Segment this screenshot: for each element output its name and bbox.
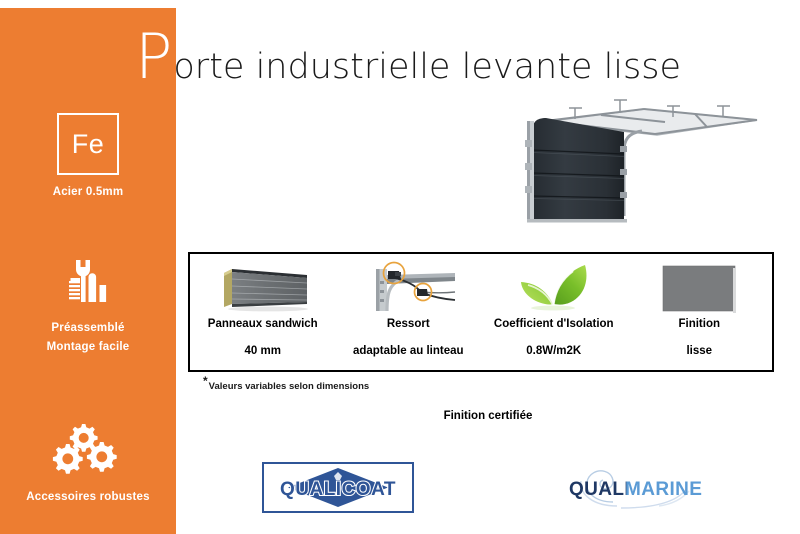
sectional-garage-door-image [505, 88, 775, 233]
feature-value-coefficient-isolation: 0.8W/m2K [526, 344, 581, 358]
sidebar-item-accessoires: Accessoires robustes [0, 420, 176, 507]
feature-title-ressort: Ressort [387, 317, 430, 331]
sandwich-panel-image [210, 258, 316, 314]
qualicoat-logo: QUALICOAT [262, 462, 414, 513]
feature-value-ressort: adaptable au linteau [353, 344, 464, 358]
feature-title-coefficient-isolation: Coefficient d'Isolation [494, 317, 614, 331]
certification-heading: Finition certifiée [0, 410, 800, 422]
sidebar-item-label-acier: Acier 0.5mm [0, 183, 176, 202]
sidebar-item-label-preassemble-1: Préassemblé [0, 319, 176, 338]
svg-text:QUALI: QUALI [569, 479, 630, 500]
fe-element-box-icon: Fe [57, 113, 119, 175]
footnote-asterisk: * [203, 374, 208, 388]
page-title-rest: orte industrielle levante lisse [173, 50, 681, 85]
page-title-initial: P [135, 26, 172, 88]
svg-text:MARINE: MARINE [625, 479, 702, 500]
svg-text:QUALICOAT: QUALICOAT [280, 479, 396, 500]
finish-swatch-image [653, 258, 745, 314]
sidebar-item-preassemble: Préassemblé Montage facile [0, 251, 176, 357]
fe-symbol-label: Fe [72, 131, 105, 158]
qualimarine-logo: QUALI MARINE [555, 466, 705, 510]
feature-cell-ressort: Ressort adaptable au linteau [336, 254, 482, 370]
gears-icon [0, 420, 176, 482]
feature-cell-finition: Finition lisse [627, 254, 773, 370]
product-sheet-page: Fe Acier 0.5mm [0, 0, 800, 534]
feature-panel: Panneaux sandwich 40 mm [188, 252, 774, 372]
feature-value-finition: lisse [686, 344, 712, 358]
sidebar-item-label-accessoires: Accessoires robustes [0, 488, 176, 507]
sidebar-item-label-preassemble-2: Montage facile [0, 338, 176, 357]
feature-title-finition: Finition [678, 317, 720, 331]
feature-value-panneaux-sandwich: 40 mm [245, 344, 281, 358]
green-leaves-icon [509, 258, 599, 314]
wrench-tools-icon [0, 251, 176, 313]
spring-mechanism-image [355, 258, 461, 314]
footnote-text: Valeurs variables selon dimensions [209, 381, 370, 392]
sidebar-item-acier: Fe Acier 0.5mm [0, 113, 176, 202]
feature-cell-panneaux-sandwich: Panneaux sandwich 40 mm [190, 254, 336, 370]
footnote: *Valeurs variables selon dimensions [203, 381, 369, 392]
feature-cell-coefficient-isolation: Coefficient d'Isolation 0.8W/m2K [481, 254, 627, 370]
page-title: P orte industrielle levante lisse [135, 26, 681, 92]
feature-title-panneaux-sandwich: Panneaux sandwich [208, 317, 318, 331]
